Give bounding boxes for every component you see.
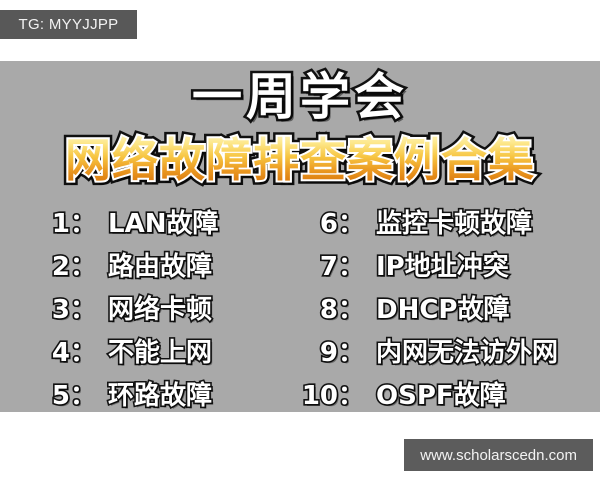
list-item: 6： 监控卡顿故障 xyxy=(290,203,562,246)
list-item-number: 2： xyxy=(38,246,96,289)
telegram-handle-text: TG: MYYJJPP xyxy=(19,16,119,33)
list-item-label: 监控卡顿故障 xyxy=(364,203,532,246)
list-item-number: 10： xyxy=(290,375,364,412)
watermark-url-text: www.scholarscedn.com xyxy=(420,447,577,464)
topic-list: 1： LAN故障 2： 路由故障 3： 网络卡顿 4： 不能上网 5： 环路故障 xyxy=(0,203,600,412)
list-item: 7： IP地址冲突 xyxy=(290,246,562,289)
poster-subtitle-gradient-layer: 网络故障排查案例合集 xyxy=(0,133,600,187)
list-item-label: 不能上网 xyxy=(96,332,212,375)
list-item-label: 环路故障 xyxy=(96,375,212,412)
list-item: 5： 环路故障 xyxy=(38,375,268,412)
list-item-number: 4： xyxy=(38,332,96,375)
list-item-number: 7： xyxy=(290,246,364,289)
list-item: 4： 不能上网 xyxy=(38,332,268,375)
list-item-label: IP地址冲突 xyxy=(364,246,509,289)
list-item: 2： 路由故障 xyxy=(38,246,268,289)
list-item-number: 1： xyxy=(38,203,96,246)
list-item: 9： 内网无法访外网 xyxy=(290,332,562,375)
list-item-label: LAN故障 xyxy=(96,203,218,246)
list-item: 1： LAN故障 xyxy=(38,203,268,246)
list-item: 10： OSPF故障 xyxy=(290,375,562,412)
list-item-label: 内网无法访外网 xyxy=(364,332,558,375)
telegram-handle-badge: TG: MYYJJPP xyxy=(0,10,137,39)
list-item-number: 9： xyxy=(290,332,364,375)
list-item-label: DHCP故障 xyxy=(364,289,509,332)
list-item-number: 3： xyxy=(38,289,96,332)
poster-subtitle: 网络故障排查案例合集 网络故障排查案例合集 网络故障排查案例合集 xyxy=(0,133,600,193)
list-item-label: 网络卡顿 xyxy=(96,289,212,332)
poster-headline: 一周学会 xyxy=(0,69,600,125)
watermark-badge: www.scholarscedn.com xyxy=(404,439,593,471)
list-item: 8： DHCP故障 xyxy=(290,289,562,332)
list-item-number: 6： xyxy=(290,203,364,246)
list-item-label: OSPF故障 xyxy=(364,375,506,412)
list-item-label: 路由故障 xyxy=(96,246,212,289)
list-item-number: 8： xyxy=(290,289,364,332)
poster-panel: 一周学会 网络故障排查案例合集 网络故障排查案例合集 网络故障排查案例合集 1：… xyxy=(0,61,600,412)
list-item-number: 5： xyxy=(38,375,96,412)
topic-list-right-column: 6： 监控卡顿故障 7： IP地址冲突 8： DHCP故障 9： 内网无法访外网… xyxy=(290,203,562,412)
list-item: 3： 网络卡顿 xyxy=(38,289,268,332)
topic-list-left-column: 1： LAN故障 2： 路由故障 3： 网络卡顿 4： 不能上网 5： 环路故障 xyxy=(38,203,268,412)
